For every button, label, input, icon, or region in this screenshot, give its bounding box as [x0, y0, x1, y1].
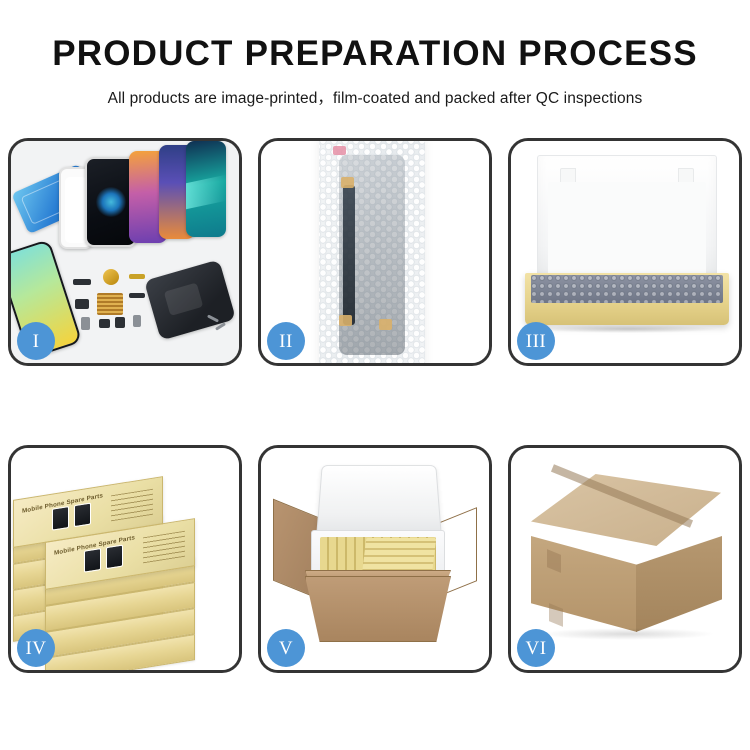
- phone-back-housing: [144, 259, 236, 340]
- flex-cable-strip: [343, 185, 355, 325]
- lid-tab-left: [560, 168, 576, 208]
- button-bracket-part: [133, 315, 141, 327]
- box-lid-raised: [537, 155, 717, 285]
- header: PRODUCT PREPARATION PROCESS All products…: [0, 0, 750, 130]
- pink-label-sticker: [333, 146, 346, 155]
- speaker-coil-part: [103, 269, 119, 285]
- bubble-wrapped-contents: [531, 275, 723, 303]
- flex-cable-dark: [129, 293, 145, 298]
- box-phone-image-b2: [106, 545, 123, 570]
- process-step-panel-6: VI: [508, 445, 742, 673]
- camera-module-part: [75, 299, 89, 309]
- sim-tray-part: [81, 317, 90, 330]
- process-step-panel-1: I: [8, 138, 242, 366]
- box-phone-image-a2: [74, 503, 91, 528]
- process-step-panel-2: II: [258, 138, 492, 366]
- bubble-wrap-bag: [319, 141, 425, 363]
- yellow-box-tray: [525, 273, 729, 325]
- carton-top-face: [531, 474, 721, 546]
- process-step-panel-5: V: [258, 445, 492, 673]
- step-badge-1: I: [17, 322, 55, 360]
- mesh-grille-part: [97, 293, 123, 315]
- step-badge-6: VI: [517, 629, 555, 667]
- process-step-panel-3: III: [508, 138, 742, 366]
- step-badge-4: IV: [17, 629, 55, 667]
- lid-tab-right: [678, 168, 694, 208]
- gradient-phone-teal: [186, 141, 226, 237]
- carton-body: [305, 576, 451, 642]
- process-step-panel-4: Mobile Phone Spare Parts Mobile Phone Sp…: [8, 445, 242, 673]
- carton-drop-shadow: [539, 628, 715, 640]
- box-spec-lines-upper: [111, 489, 153, 522]
- box-drop-shadow: [537, 325, 719, 333]
- product-preparation-infographic: PRODUCT PREPARATION PROCESS All products…: [0, 0, 750, 750]
- foam-lid: [316, 465, 442, 538]
- battery-connector-chip: [73, 279, 91, 285]
- process-step-grid: I II: [8, 138, 742, 673]
- box-phone-image-a1: [52, 506, 69, 531]
- step-badge-3: III: [517, 322, 555, 360]
- step-badge-2: II: [267, 322, 305, 360]
- connector-bottom-left: [339, 315, 352, 326]
- page-title: PRODUCT PREPARATION PROCESS: [0, 34, 750, 74]
- connector-top: [341, 177, 354, 188]
- vibrator-motor-part: [115, 317, 125, 328]
- carton-side-face: [636, 536, 722, 632]
- box-spec-lines-lower: [143, 531, 185, 564]
- step-badge-5: V: [267, 629, 305, 667]
- flex-cable-gold: [129, 274, 145, 279]
- connector-bottom-right: [379, 319, 392, 330]
- box-phone-image-b1: [84, 548, 101, 573]
- page-subtitle: All products are image-printed，film-coat…: [0, 86, 750, 108]
- speaker-part: [99, 319, 110, 328]
